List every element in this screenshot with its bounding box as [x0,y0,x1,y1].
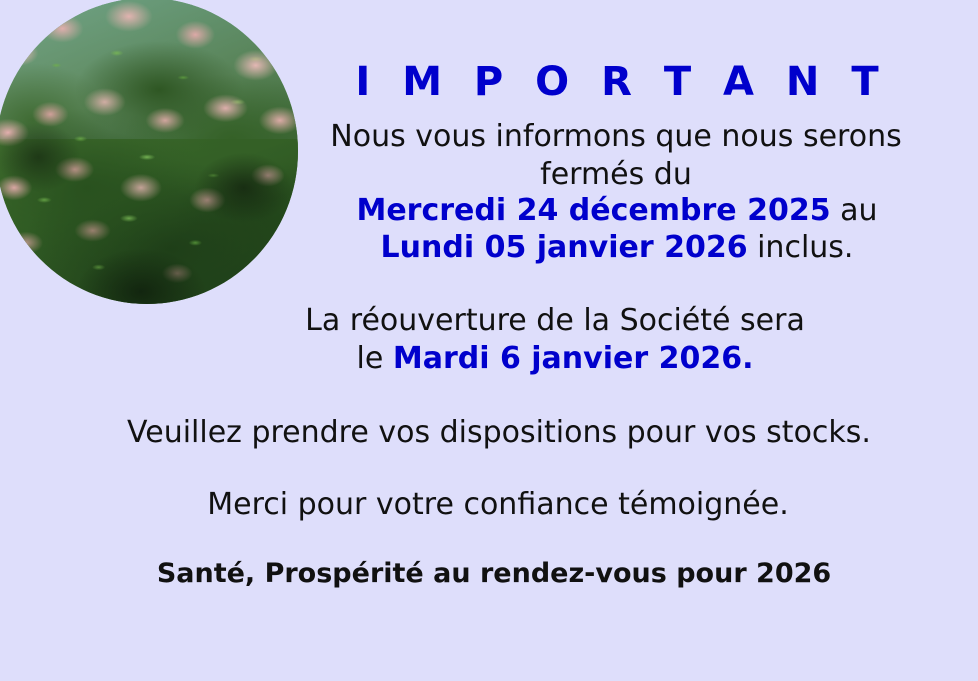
closing-wishes-line: Santé, Prospérité au rendez-vous pour 20… [157,560,831,587]
closure-start-date-line: Mercredi 24 décembre 2025 au [356,196,877,226]
reopening-lead: le [357,341,393,376]
closure-start-date: Mercredi 24 décembre 2025 [356,193,830,228]
page-title: I M P O R T A N T [346,62,887,102]
notice-text-area: I M P O R T A N T Nous vous informons qu… [0,0,978,681]
closure-end-date-suffix: inclus. [748,230,854,265]
intro-line-2: fermés du [540,160,692,190]
reopening-line-2: le Mardi 6 janvier 2026. [357,344,754,374]
intro-line-1: Nous vous informons que nous serons [330,122,901,152]
reopening-date: Mardi 6 janvier 2026. [393,341,754,376]
closure-end-date-line: Lundi 05 janvier 2026 inclus. [381,233,854,263]
closure-start-date-suffix: au [831,193,878,228]
thanks-line: Merci pour votre confiance témoignée. [207,490,788,520]
stocks-instruction-line: Veuillez prendre vos dispositions pour v… [127,418,871,448]
closure-notice-poster: I M P O R T A N T Nous vous informons qu… [0,0,978,681]
reopening-line-1: La réouverture de la Société sera [305,306,805,336]
closure-end-date: Lundi 05 janvier 2026 [381,230,748,265]
